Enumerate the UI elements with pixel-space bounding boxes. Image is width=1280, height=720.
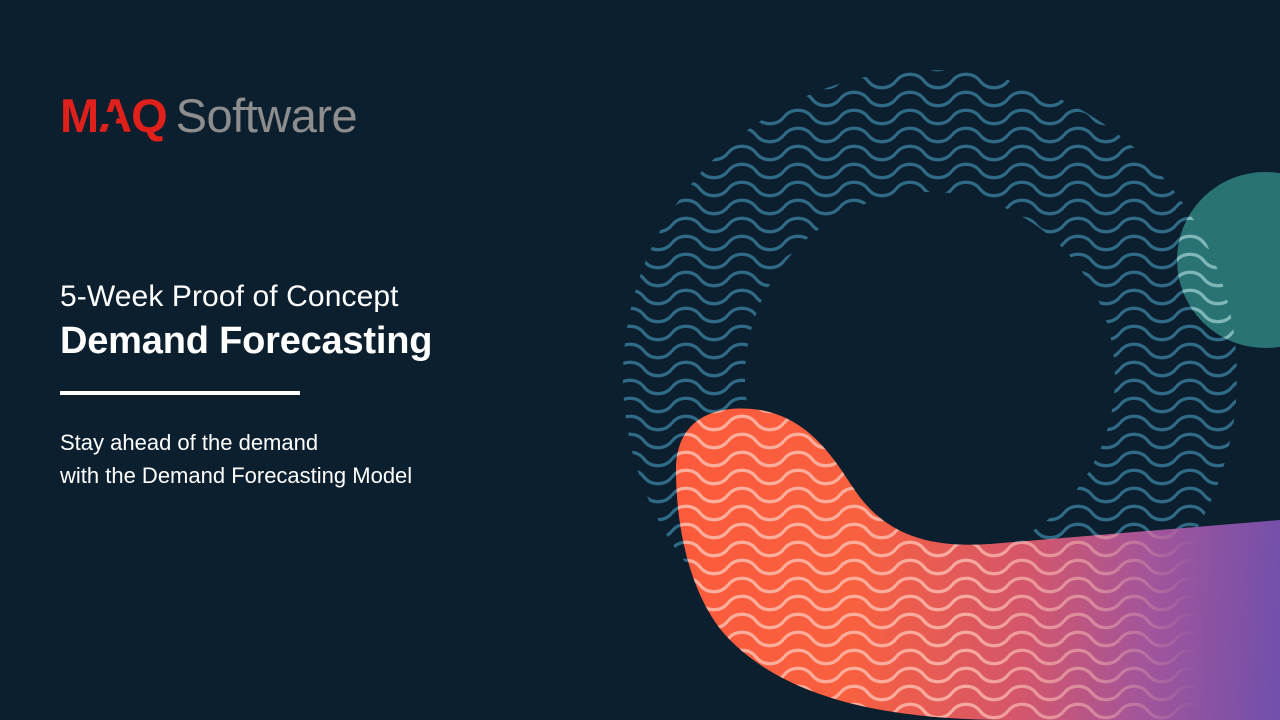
subtitle-line-2: with the Demand Forecasting Model bbox=[60, 459, 580, 492]
logo-wordmark: Software bbox=[176, 89, 357, 142]
maq-software-logo: MAQSoftware bbox=[60, 92, 357, 139]
orange-purple-swoosh bbox=[660, 390, 1280, 720]
eyebrow-text: 5-Week Proof of Concept bbox=[60, 278, 580, 316]
page-title: Demand Forecasting bbox=[60, 318, 580, 364]
slide-canvas: MAQSoftware 5-Week Proof of Concept Dema… bbox=[0, 0, 1280, 720]
subtitle-block: Stay ahead of the demand with the Demand… bbox=[60, 426, 580, 492]
title-divider bbox=[60, 391, 300, 395]
subtitle-line-1: Stay ahead of the demand bbox=[60, 426, 580, 459]
headline-block: 5-Week Proof of Concept Demand Forecasti… bbox=[60, 278, 580, 492]
logo-a-notch bbox=[99, 112, 119, 124]
